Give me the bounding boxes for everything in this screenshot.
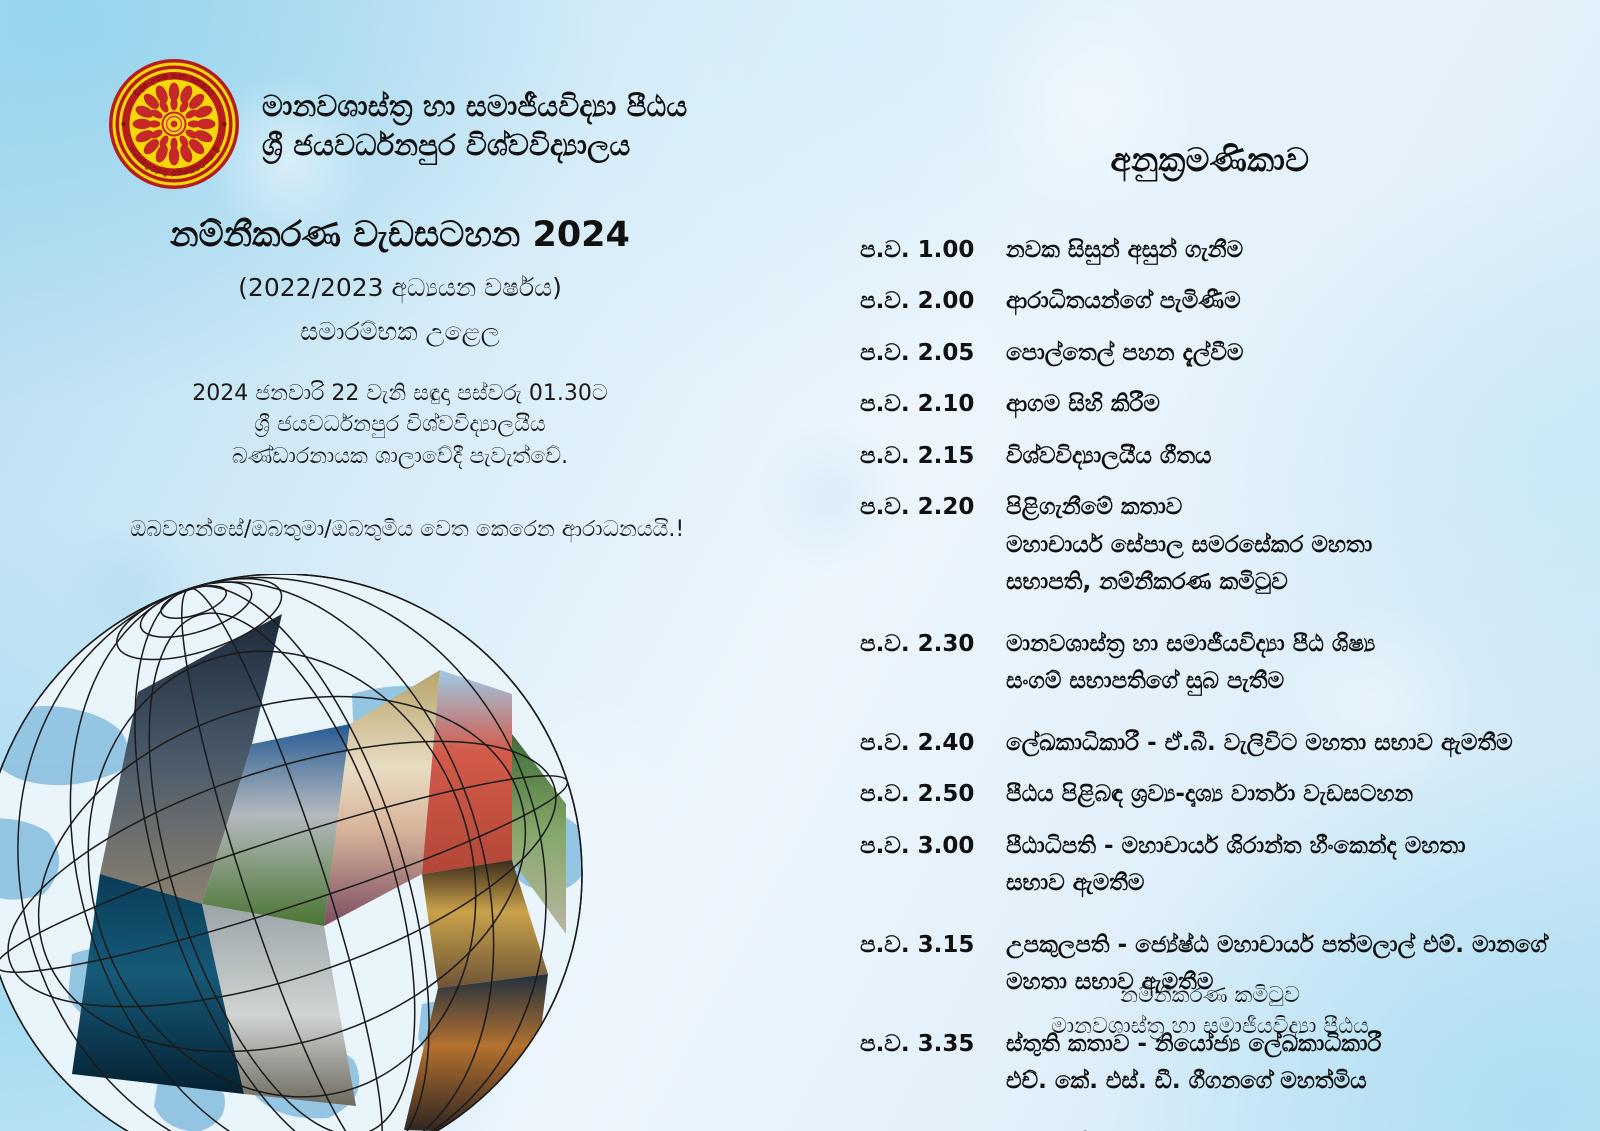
- agenda-item-title: ජාතික ගීය: [1006, 1125, 1560, 1131]
- agenda-row: ප.ව. 2.50පීඨය පිළිබඳ ශ්‍රව්‍ය-දෘශ්‍ය වාර…: [860, 776, 1560, 813]
- agenda-item-title: ආගම සිහි කිරීම: [1006, 386, 1560, 423]
- venue-line-2: බණ්ඩාරනායක ශාලාවේදී පැවැත්වේ.: [130, 441, 670, 473]
- agenda-time: ප.ව. 2.40: [860, 725, 1006, 762]
- agenda-time: ප.ව. 2.10: [860, 386, 1006, 423]
- agenda-row: ප.ව. 2.15විශ්වවිද්‍යාලයීය ගීතය: [860, 438, 1560, 475]
- agenda-item-title: ආරාධිතයන්ගේ පැමිණීම: [1006, 283, 1560, 320]
- agenda-row: ප.ව. 1.00නවක සිසුන් අසුන් ගැනීම: [860, 232, 1560, 269]
- invitation-page: විද්‍යා උපත තතං කෙරෙථ ශ්‍රී ජයවර්ධනපුර ව…: [0, 0, 1600, 1131]
- agenda-item-title: පිළිගැනීමේ කතාව: [1006, 489, 1560, 526]
- faculty-name-block: මානවශාස්ත්‍ර හා සමාජීයවිද්‍යා පීඨය ශ්‍රී…: [262, 83, 687, 165]
- agenda-item-subline: මහාචාර්ය සේපාල සමරසේකර මහතා: [1006, 527, 1560, 564]
- agenda-item-title: පොල්තෙල් පහන දැල්වීම: [1006, 335, 1560, 372]
- invitation-request: ඔබවහන්සේ/ඔබතුමා/ඔබතුමිය වෙත කෙරෙන ආරාධනය…: [130, 515, 670, 546]
- footer-committee: නම්නීකරණ කමිටුව: [860, 980, 1560, 1011]
- globe-photo-collage-icon: [0, 574, 652, 1131]
- agenda-row: ප.ව. 2.00ආරාධිතයන්ගේ පැමිණීම: [860, 283, 1560, 320]
- agenda-row: ප.ව. 2.30මානවශාස්ත්‍ර හා සමාජීයවිද්‍යා ප…: [860, 626, 1560, 701]
- footer-faculty: මානවශාස්ත්‍ර හා සමාජීයවිද්‍යා පීඨය: [860, 1011, 1560, 1042]
- agenda-item-title: මානවශාස්ත්‍ර හා සමාජීයවිද්‍යා පීඨ ශිෂ්‍ය: [1006, 626, 1560, 663]
- agenda-description: ජාතික ගීය: [1006, 1125, 1560, 1131]
- agenda-description: පොල්තෙල් පහන දැල්වීම: [1006, 335, 1560, 372]
- agenda-item-title: පීඨය පිළිබඳ ශ්‍රව්‍ය-දෘශ්‍ය වාර්තා වැඩසට…: [1006, 776, 1560, 813]
- agenda-description: මානවශාස්ත්‍ර හා සමාජීයවිද්‍යා පීඨ ශිෂ්‍ය…: [1006, 626, 1560, 701]
- agenda-time: ප.ව. 3.15: [860, 927, 1006, 964]
- agenda-item-subline: එච්. කේ. එස්. ඩී. ගීගනගේ මහත්මිය: [1006, 1063, 1560, 1100]
- academic-year: (2022/2023 අධ්‍යයන වර්ෂය): [130, 272, 670, 303]
- agenda-time: ප.ව. 2.30: [860, 626, 1006, 663]
- agenda-time: ප.ව. 2.20: [860, 489, 1006, 526]
- university-seal-icon: විද්‍යා උපත තතං කෙරෙථ ශ්‍රී ජයවර්ධනපුර ව…: [108, 58, 240, 190]
- agenda-row: ප.ව. 3.00පීඨාධිපති - මහාචාර්ය ශිරාන්ත හී…: [860, 828, 1560, 903]
- agenda-description: ලේඛකාධිකාරී - ඒ.බී. වැලිවිට මහතා සභාව ඇම…: [1006, 725, 1560, 762]
- agenda-item-title: ලේඛකාධිකාරී - ඒ.බී. වැලිවිට මහතා සභාව ඇම…: [1006, 725, 1560, 762]
- venue-line-1: ශ්‍රී ජයවර්ධනපුර විශ්වවිද්‍යාලයීය: [130, 409, 670, 441]
- agenda-time: ප.ව. 3.40: [860, 1125, 1006, 1131]
- agenda-row: ප.ව. 2.40ලේඛකාධිකාරී - ඒ.බී. වැලිවිට මහත…: [860, 725, 1560, 762]
- programme-title: නම්නීකරණ වැඩසටහන 2024: [130, 214, 670, 256]
- agenda-item-subline: සභාපති, නම්නීකරණ කමිටුව: [1006, 564, 1560, 601]
- agenda-item-title: පීඨාධිපති - මහාචාර්ය ශිරාන්ත හීංකෙන්ද මහ…: [1006, 828, 1560, 865]
- agenda-time: ප.ව. 1.00: [860, 232, 1006, 269]
- agenda-time: ප.ව. 2.50: [860, 776, 1006, 813]
- agenda-description: ආරාධිතයන්ගේ පැමිණීම: [1006, 283, 1560, 320]
- agenda-row: ප.ව. 3.40ජාතික ගීය: [860, 1125, 1560, 1131]
- faculty-name-line-1: මානවශාස්ත්‍ර හා සමාජීයවිද්‍යා පීඨය: [262, 87, 687, 126]
- agenda-description: පිළිගැනීමේ කතාවමහාචාර්ය සේපාල සමරසේකර මහ…: [1006, 489, 1560, 601]
- agenda-item-title: නවක සිසුන් අසුන් ගැනීම: [1006, 232, 1560, 269]
- agenda-item-title: විශ්වවිද්‍යාලයීය ගීතය: [1006, 438, 1560, 475]
- agenda-row: ප.ව. 2.20පිළිගැනීමේ කතාවමහාචාර්ය සේපාල ස…: [860, 489, 1560, 601]
- agenda-item-subline: සංගම් සභාපතිගේ සුබ පැතීම: [1006, 663, 1560, 700]
- agenda-description: පීඨය පිළිබඳ ශ්‍රව්‍ය-දෘශ්‍ය වාර්තා වැඩසට…: [1006, 776, 1560, 813]
- agenda-row: ප.ව. 2.05පොල්තෙල් පහන දැල්වීම: [860, 335, 1560, 372]
- agenda-description: පීඨාධිපති - මහාචාර්ය ශිරාන්ත හීංකෙන්ද මහ…: [1006, 828, 1560, 903]
- agenda-time: ප.ව. 2.15: [860, 438, 1006, 475]
- invitation-block: නම්නීකරණ වැඩසටහන 2024 (2022/2023 අධ්‍යයන…: [130, 214, 670, 546]
- faculty-header: විද්‍යා උපත තතං කෙරෙථ ශ්‍රී ජයවර්ධනපුර ව…: [108, 58, 687, 190]
- agenda-description: නවක සිසුන් අසුන් ගැනීම: [1006, 232, 1560, 269]
- agenda-footer: නම්නීකරණ කමිටුව මානවශාස්ත්‍ර හා සමාජීයවි…: [860, 980, 1560, 1042]
- event-datetime: 2024 ජනවාරි 22 වැනි සඳුදා පස්වරු 01.30ට: [130, 378, 670, 410]
- agenda-time: ප.ව. 2.05: [860, 335, 1006, 372]
- agenda-description: ආගම සිහි කිරීම: [1006, 386, 1560, 423]
- agenda-time: ප.ව. 3.00: [860, 828, 1006, 865]
- agenda-row: ප.ව. 2.10ආගම සිහි කිරීම: [860, 386, 1560, 423]
- agenda-item-subline: සභාව ඇමතීම: [1006, 865, 1560, 902]
- agenda-item-title: උපකුලපති - ජ්‍යේෂ්ඨ මහාචාර්ය පත්මලාල් එම…: [1006, 927, 1560, 964]
- event-name: සමාරම්භක උළෙල: [130, 316, 670, 347]
- agenda-description: විශ්වවිද්‍යාලයීය ගීතය: [1006, 438, 1560, 475]
- university-name-line: ශ්‍රී ජයවර්ධනපුර විශ්වවිද්‍යාලය: [262, 126, 687, 165]
- agenda-heading: අනුක්‍රමණිකාව: [860, 140, 1560, 180]
- agenda-time: ප.ව. 2.00: [860, 283, 1006, 320]
